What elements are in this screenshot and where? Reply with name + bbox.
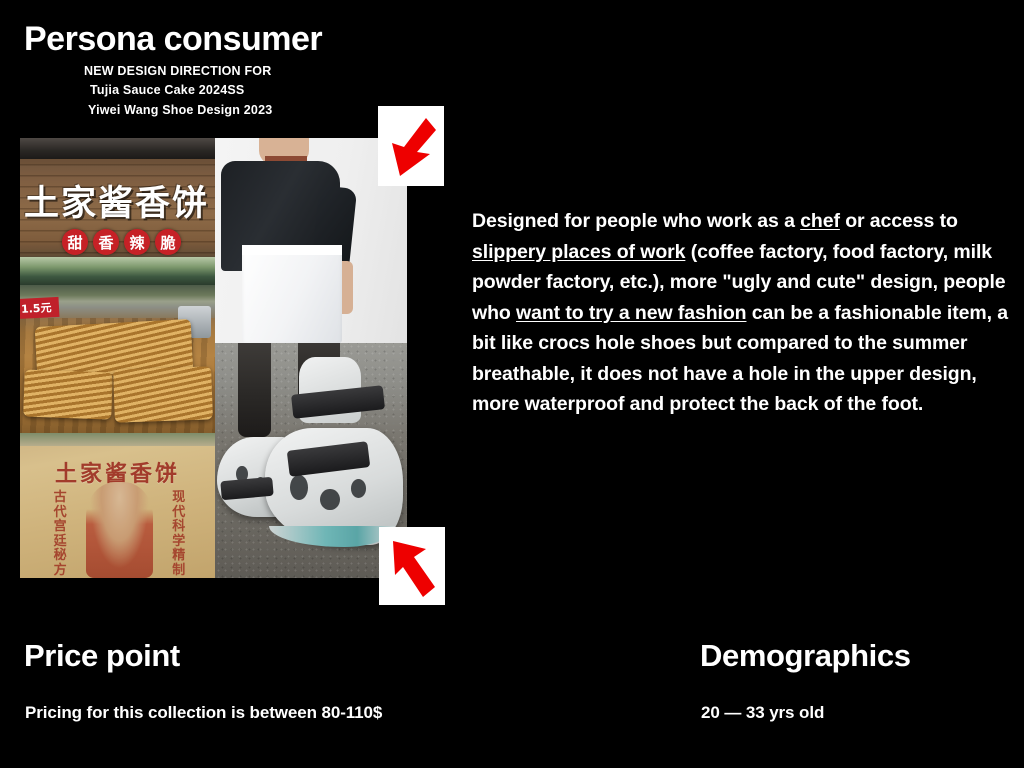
text-run: or access to: [840, 210, 958, 232]
sign-tag-4: 脆: [155, 229, 181, 255]
sign-tag-2: 香: [93, 229, 119, 255]
image-collage: 土家酱香饼 甜 香 辣 脆 1.5元: [20, 138, 407, 578]
sauce-cake-food-photo: 1.5元: [20, 285, 215, 433]
page-title: Persona consumer: [24, 22, 322, 58]
subtitle-line-2: Tujia Sauce Cake 2024SS: [90, 81, 272, 100]
shoe-hole: [320, 489, 339, 510]
callout-card-top: [378, 106, 444, 186]
text-run: Designed for people who work as a: [472, 210, 800, 232]
chef-apron: [242, 247, 342, 343]
shoe-hole: [290, 475, 308, 501]
storefront-sign-tags: 甜 香 辣 脆: [62, 229, 181, 255]
storefront-sign-photo: 土家酱香饼 甜 香 辣 脆: [20, 138, 215, 285]
sign-tag-1: 甜: [62, 229, 88, 255]
pancake-stack-3: [113, 366, 212, 423]
subtitle-line-1: NEW DESIGN DIRECTION FOR: [84, 62, 272, 81]
storefront-sign-text: 土家酱香饼: [24, 187, 215, 222]
left-leg: [238, 343, 271, 437]
persona-description-paragraph: Designed for people who work as a chef o…: [472, 206, 1008, 420]
price-point-text: Pricing for this collection is between 8…: [25, 703, 382, 723]
emphasis-run: want to try a new fashion: [516, 302, 746, 324]
sign-eave: [20, 138, 215, 159]
emphasis-run: slippery places of work: [472, 241, 685, 263]
price-point-heading: Price point: [24, 638, 180, 674]
bag-right-column-text: 现代科学精制: [170, 491, 188, 578]
bag-left-column-text: 古代宫廷秘方: [51, 491, 69, 578]
shopfront-window: [20, 257, 215, 285]
bag-illustration-figure: [86, 482, 152, 578]
pancake-stack-2: [23, 369, 112, 419]
emphasis-run: chef: [800, 210, 840, 232]
bag-background-strip: [20, 433, 215, 446]
arrow-up-left-icon: [379, 527, 445, 605]
subtitle-line-3: Yiwei Wang Shoe Design 2023: [88, 101, 272, 120]
shoe-hole: [351, 479, 366, 498]
subtitle-block: NEW DESIGN DIRECTION FOR Tujia Sauce Cak…: [84, 62, 272, 120]
arrow-down-left-icon: [378, 106, 444, 186]
price-tag-label: 1.5元: [20, 297, 59, 319]
demographics-text: 20 — 33 yrs old: [701, 703, 824, 723]
chef-apron-band: [242, 245, 342, 255]
callout-card-bottom: [379, 527, 445, 605]
demographics-heading: Demographics: [700, 638, 911, 674]
sign-tag-3: 辣: [124, 229, 150, 255]
paper-bag-packaging-photo: 土家酱香饼 古代宫廷秘方 现代科学精制: [20, 433, 215, 578]
